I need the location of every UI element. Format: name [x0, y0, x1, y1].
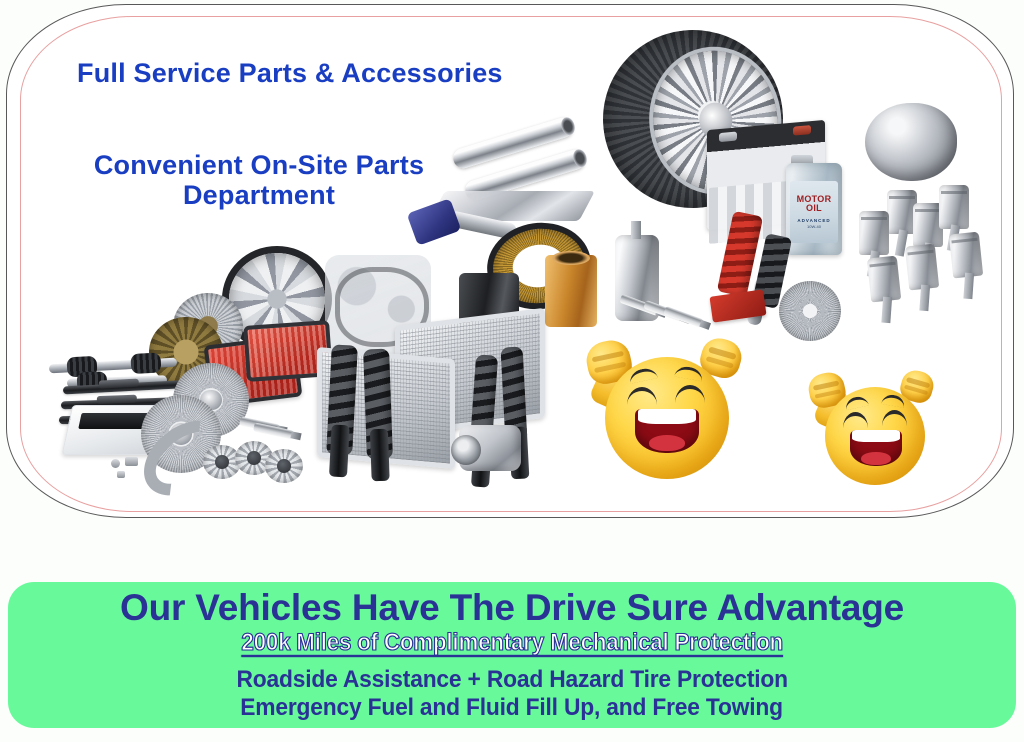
- motor-oil-label: MOTOR OIL ADVANCED 10W-40: [790, 181, 838, 243]
- smiley-teeth: [852, 430, 900, 442]
- turbocharger-icon: [865, 103, 957, 181]
- ad-banner-stage: MOTOR OIL ADVANCED 10W-40: [0, 0, 1024, 742]
- oil-viscosity-label: 10W-40: [807, 225, 821, 229]
- piston-icon: [939, 185, 969, 229]
- piston-icon: [905, 244, 939, 291]
- laughing-smiley-large: [579, 335, 739, 483]
- smiley-brow: [674, 365, 704, 382]
- piston-icon: [859, 211, 889, 255]
- strut-assembly-icon: [363, 349, 393, 460]
- smiley-brow: [844, 395, 869, 411]
- banner-roadside-line: Roadside Assistance + Road Hazard Tire P…: [236, 666, 787, 694]
- banner-fuel-towing-line: Emergency Fuel and Fluid Fill Up, and Fr…: [241, 694, 784, 722]
- cv-axle-shaft-icon: [49, 358, 177, 374]
- oil-grade-label: ADVANCED: [797, 219, 830, 224]
- smiley-face: [605, 357, 729, 479]
- bolt-icon: [117, 471, 125, 478]
- bolt-icon: [125, 457, 138, 466]
- smiley-eye: [843, 412, 868, 428]
- piston-icon: [867, 256, 901, 303]
- oil-brand-line-2: OIL: [806, 204, 822, 213]
- smiley-teeth: [638, 409, 697, 424]
- smiley-brow: [628, 366, 658, 384]
- drive-sure-advantage-banner: Our Vehicles Have The Drive Sure Advanta…: [8, 582, 1016, 728]
- cartridge-oil-filter-icon: [545, 255, 597, 327]
- piston-icon: [949, 232, 983, 279]
- smiley-eye: [627, 387, 657, 405]
- headline-onsite-parts-department: Convenient On-Site Parts Department: [69, 150, 449, 210]
- smiley-tongue: [861, 452, 890, 465]
- bolt-icon: [111, 459, 120, 468]
- smiley-brow: [881, 393, 906, 408]
- wheel-hub-bearing-icon: [265, 449, 303, 483]
- smiley-eye: [882, 410, 907, 426]
- banner-headline: Our Vehicles Have The Drive Sure Advanta…: [120, 588, 904, 627]
- ac-compressor-icon: [459, 425, 521, 471]
- laughing-smiley-small: [803, 367, 931, 485]
- headline-full-service-parts: Full Service Parts & Accessories: [77, 58, 503, 88]
- hero-card: MOTOR OIL ADVANCED 10W-40: [6, 4, 1014, 518]
- smiley-tongue: [649, 435, 685, 451]
- smiley-mouth: [635, 409, 699, 453]
- banner-mechanical-protection-line: 200k Miles of Complimentary Mechanical P…: [241, 629, 783, 657]
- smiley-eye: [675, 385, 705, 403]
- smiley-face: [825, 387, 925, 485]
- smiley-mouth: [850, 430, 902, 466]
- brake-rotor-icon: [779, 281, 841, 341]
